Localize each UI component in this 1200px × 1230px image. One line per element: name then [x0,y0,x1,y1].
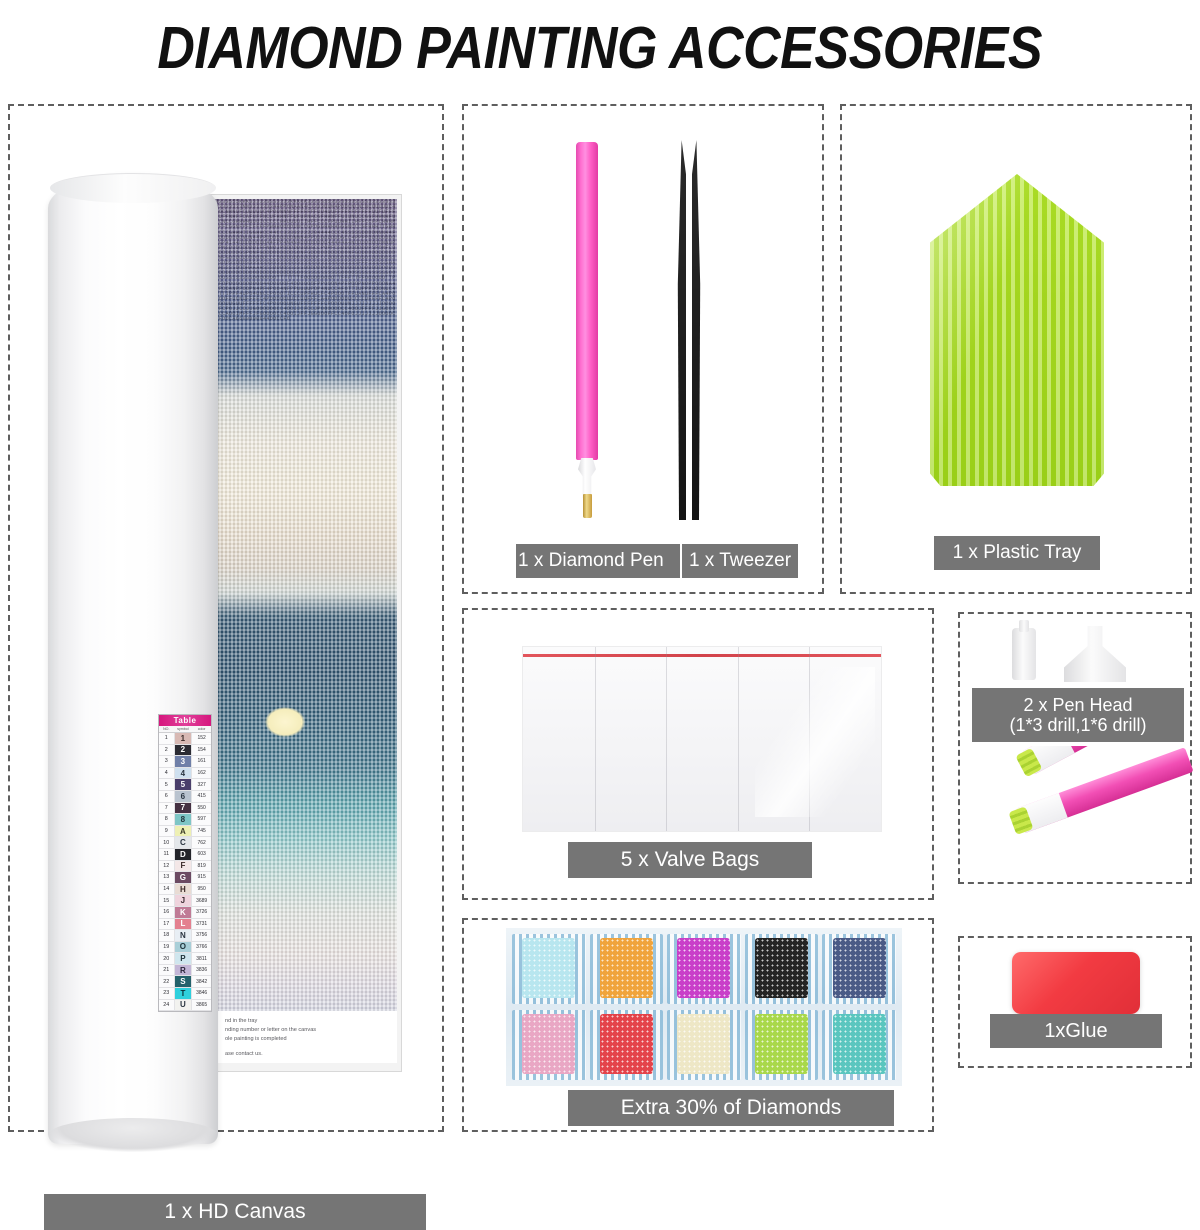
diamond-bag [590,1010,664,1080]
pen-head-photo [982,746,1194,882]
valve-bags-stack [522,646,882,832]
label-diamond-pen: 1 x Diamond Pen [516,544,680,578]
color-table-row: 20P3811 [159,953,211,965]
color-table-row: 11D603 [159,849,211,861]
diamond-pen-ferrule [578,458,596,498]
label-tweezer: 1 x Tweezer [682,544,798,578]
color-row-number: 9 [159,826,174,837]
color-row-symbol: T [174,988,193,999]
label-extra-diamonds: Extra 30% of Diamonds [568,1090,894,1126]
color-row-symbol: P [174,953,193,964]
color-table-row: 13G915 [159,872,211,884]
color-row-number: 7 [159,803,174,814]
color-row-code: 3842 [192,976,211,987]
color-row-code: 915 [192,872,211,883]
color-row-number: 4 [159,768,174,779]
label-valve-bags: 5 x Valve Bags [568,842,812,878]
bag-divider [738,647,739,831]
color-row-number: 1 [159,733,174,744]
color-table-row: 12F819 [159,861,211,873]
color-row-symbol: C [174,837,193,848]
color-table-row: 14H950 [159,884,211,896]
color-row-symbol: 6 [174,791,193,802]
color-row-number: 3 [159,756,174,767]
color-row-code: 3726 [192,907,211,918]
color-row-number: 15 [159,895,174,906]
color-table-row: 24U3865 [159,1000,211,1012]
canvas-symbol-grid: 33333555KKK33333SSS3333KKKKK333SSSS33333… [211,199,397,1019]
color-row-symbol: O [174,942,193,953]
color-table-row: 23T3846 [159,988,211,1000]
color-row-code: 3846 [192,988,211,999]
canvas-instructions: nd in the tray nding number or letter on… [211,1011,397,1063]
diamond-bag [512,934,586,1004]
label-hd-canvas: 1 x HD Canvas [44,1194,426,1230]
color-table-body: 1115222154331614416255327664157755088597… [159,733,211,1011]
color-row-code: 762 [192,837,211,848]
color-row-number: 5 [159,779,174,790]
canvas-artwork: 33333555KKK33333SSS3333KKKKK333SSSS33333… [211,199,397,1019]
color-row-code: 819 [192,861,211,872]
color-row-symbol: K [174,907,193,918]
instruction-line-4: ase contact us. [225,1050,397,1059]
diamond-bag-row-bottom [506,1010,902,1080]
diamond-bag [822,1010,896,1080]
bag-divider [666,647,667,831]
label-pen-head: 2 x Pen Head (1*3 drill,1*6 drill) [972,688,1184,742]
color-table-row: 15J3689 [159,895,211,907]
color-row-code: 3689 [192,895,211,906]
instruction-line-1: nd in the tray [225,1017,397,1026]
color-row-number: 17 [159,919,174,930]
bag-gloss-highlight [755,667,875,817]
color-row-symbol: 4 [174,768,193,779]
column-header-color: color [192,726,211,732]
color-row-symbol: G [174,872,193,883]
color-row-symbol: 3 [174,756,193,767]
color-table-row: 17L3731 [159,919,211,931]
color-row-symbol: U [174,1000,193,1011]
panel-pen-head: 2 x Pen Head (1*3 drill,1*6 drill) [958,612,1192,884]
page-title: DIAMOND PAINTING ACCESSORIES [158,14,1043,82]
color-row-symbol: J [174,895,193,906]
panel-plastic-tray: 1 x Plastic Tray [840,104,1192,594]
color-row-symbol: R [174,965,193,976]
column-header-no: NO. [159,726,174,732]
canvas-moon-motif [265,707,305,737]
color-table-row: 77550 [159,803,211,815]
color-table-row: 44162 [159,768,211,780]
color-row-code: 3836 [192,965,211,976]
color-row-code: 3731 [192,919,211,930]
color-row-code: 161 [192,756,211,767]
color-row-number: 20 [159,953,174,964]
color-table-row: 33161 [159,756,211,768]
color-row-code: 745 [192,826,211,837]
diamond-bag-row-top [506,934,902,1004]
tweezer-arm-left [676,140,686,520]
tweezer-arm-right [692,140,702,520]
page-header: DIAMOND PAINTING ACCESSORIES [0,0,1200,96]
bag-divider [595,647,596,831]
diamond-pen-body [576,142,598,460]
color-row-number: 24 [159,1000,174,1011]
color-table-row: 88597 [159,814,211,826]
diamond-pen-tip [583,494,592,518]
pen-head-6-drill-icon [1064,626,1126,682]
panel-glue: 1xGlue [958,936,1192,1068]
canvas-stage: 33333555KKK33333SSS3333KKKKK333SSSS33333… [10,106,442,1130]
glue-block [1012,952,1140,1014]
tray-highlight [930,174,1104,486]
color-row-code: 3766 [192,942,211,953]
color-row-code: 597 [192,814,211,825]
color-row-number: 11 [159,849,174,860]
color-table-row: 21R3836 [159,965,211,977]
color-row-code: 154 [192,745,211,756]
panel-valve-bags: 5 x Valve Bags [462,608,934,900]
color-table-row: 66415 [159,791,211,803]
color-row-number: 6 [159,791,174,802]
color-row-number: 13 [159,872,174,883]
label-glue: 1xGlue [990,1014,1162,1048]
color-row-code: 550 [192,803,211,814]
color-row-symbol: F [174,861,193,872]
label-plastic-tray: 1 x Plastic Tray [934,536,1100,570]
canvas-sheet: 33333555KKK33333SSS3333KKKKK333SSSS33333… [206,194,402,1072]
color-row-number: 22 [159,976,174,987]
color-row-symbol: H [174,884,193,895]
pen-head-3-drill-icon [1012,628,1036,680]
panel-hd-canvas: 33333555KKK33333SSS3333KKKKK333SSSS33333… [8,104,444,1132]
plastic-tray [930,174,1104,486]
valve-bag-zip-seal [523,654,881,657]
color-table-row: 9A745 [159,826,211,838]
rolled-canvas-top [50,173,216,203]
color-row-symbol: 2 [174,745,193,756]
color-table-column-headers: NO. symbol color [159,726,211,733]
color-row-code: 3865 [192,1000,211,1011]
color-row-symbol: S [174,976,193,987]
color-row-symbol: L [174,919,193,930]
color-row-code: 603 [192,849,211,860]
color-row-number: 18 [159,930,174,941]
color-row-code: 415 [192,791,211,802]
color-row-symbol: A [174,826,193,837]
color-table-row: 10C762 [159,837,211,849]
color-row-number: 8 [159,814,174,825]
diamond-bag [822,934,896,1004]
color-row-number: 19 [159,942,174,953]
diamond-bag [667,1010,741,1080]
diamond-bag [667,934,741,1004]
color-row-code: 152 [192,733,211,744]
color-row-code: 3811 [192,953,211,964]
tweezer [660,140,718,520]
color-row-number: 2 [159,745,174,756]
color-table-row: 16K3726 [159,907,211,919]
color-table-row: 55327 [159,779,211,791]
color-table-row: 19O3766 [159,942,211,954]
color-row-code: 950 [192,884,211,895]
color-row-number: 14 [159,884,174,895]
color-row-number: 12 [159,861,174,872]
color-row-symbol: 5 [174,779,193,790]
color-row-symbol: D [174,849,193,860]
color-table-title: Table [159,715,211,726]
diamond-bag [745,934,819,1004]
color-row-number: 23 [159,988,174,999]
color-table-row: 11152 [159,733,211,745]
color-row-symbol: N [174,930,193,941]
color-table-row: 18N3756 [159,930,211,942]
instruction-line-2: nding number or letter on the canvas [225,1026,397,1035]
diamond-bag [745,1010,819,1080]
color-row-number: 16 [159,907,174,918]
color-row-code: 162 [192,768,211,779]
color-table-row: 22S3842 [159,976,211,988]
color-row-symbol: 8 [174,814,193,825]
color-row-symbol: 7 [174,803,193,814]
color-table-row: 22154 [159,745,211,757]
instruction-line-3: ole painting is completed [225,1035,397,1044]
color-row-code: 3756 [192,930,211,941]
panel-extra-diamonds: Extra 30% of Diamonds [462,918,934,1132]
color-row-number: 21 [159,965,174,976]
diamond-bag [590,934,664,1004]
diamond-bags-photo [506,928,902,1086]
color-row-number: 10 [159,837,174,848]
color-row-symbol: 1 [174,733,193,744]
color-row-code: 327 [192,779,211,790]
color-legend-table: Table NO. symbol color 11152221543316144… [158,714,212,1012]
panel-pen-tweezer: 1 x Diamond Pen 1 x Tweezer [462,104,824,594]
diamond-bag [512,1010,586,1080]
column-header-symbol: symbol [174,726,193,732]
